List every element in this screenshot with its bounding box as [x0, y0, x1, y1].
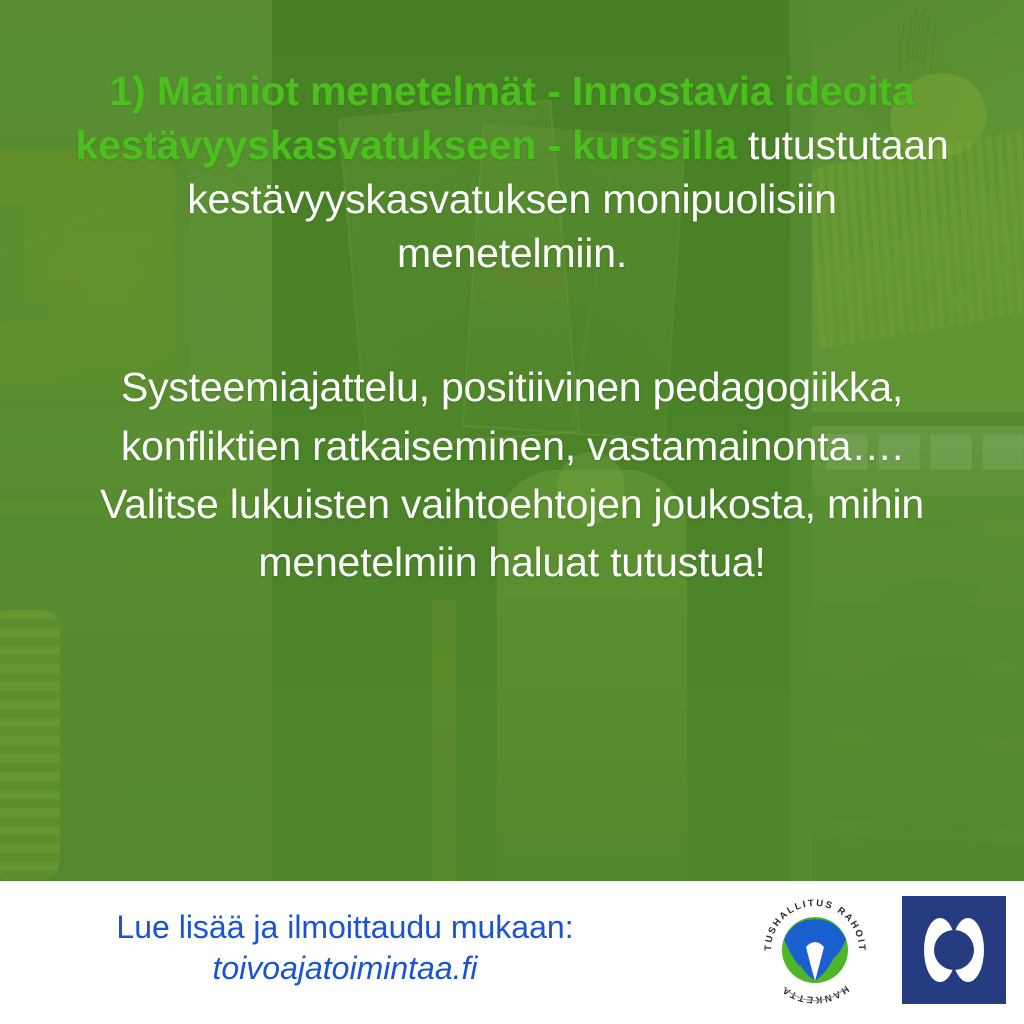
footer-website-link[interactable]: toivoajatoimintaa.fi — [0, 948, 690, 989]
opetushallitus-logo-icon — [902, 896, 1006, 1004]
poster-body-text: Systeemiajattelu, positiivinen pedagogii… — [72, 358, 952, 591]
opetushallitus-funding-stamp-icon: OPETUSHALLITUS RAHOITTAA HANKETTA — [754, 889, 876, 1011]
poster-footer: Lue lisää ja ilmoittaudu mukaan: toivoaj… — [0, 881, 1024, 1024]
poster-headline: 1) Mainiot menetelmät - Innostavia ideoi… — [72, 64, 952, 280]
stamp-text-bottom: HANKETTA — [779, 983, 851, 1005]
stamp-emblem — [782, 917, 848, 983]
footer-cta-line1: Lue lisää ja ilmoittaudu mukaan: — [0, 907, 690, 948]
footer-logos: OPETUSHALLITUS RAHOITTAA HANKETTA — [754, 889, 1006, 1011]
footer-cta: Lue lisää ja ilmoittaudu mukaan: toivoaj… — [0, 907, 690, 989]
poster-content: 1) Mainiot menetelmät - Innostavia ideoi… — [0, 0, 1024, 881]
poster-canvas: 1 JEANS — [0, 0, 1024, 1024]
